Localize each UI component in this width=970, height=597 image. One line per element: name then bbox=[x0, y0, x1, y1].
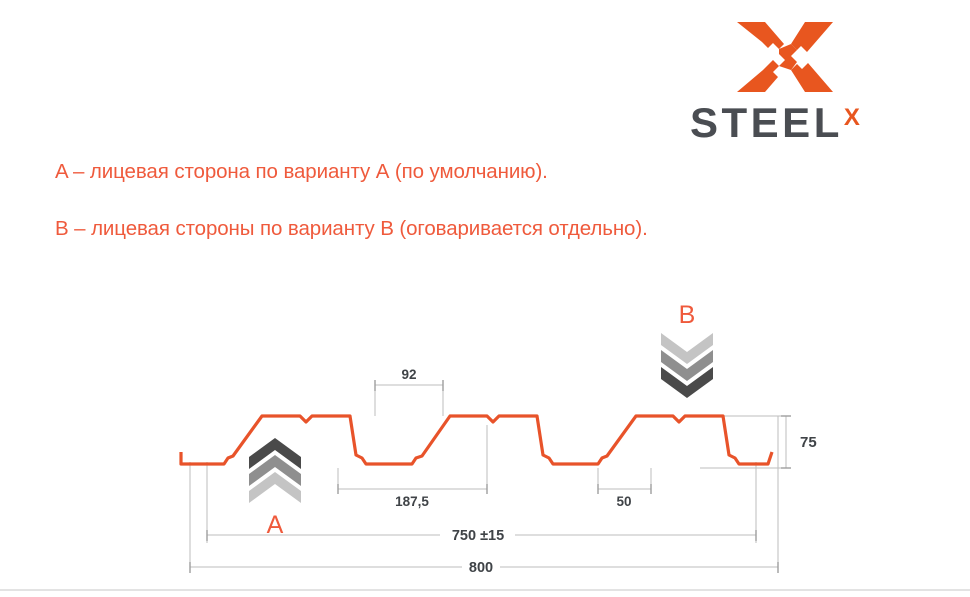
dimension-label-187-5: 187,5 bbox=[395, 494, 429, 509]
profile-technical-drawing: 92 187,5 50 75 750 ±15 800 bbox=[0, 0, 970, 597]
dimension-label-50: 50 bbox=[616, 494, 631, 509]
face-marker-a: A bbox=[243, 438, 307, 538]
dimension-label-92: 92 bbox=[401, 367, 416, 382]
face-marker-b: B bbox=[655, 303, 719, 408]
chevron-down-stack-icon bbox=[661, 333, 713, 404]
chevron-up-stack-icon bbox=[249, 438, 301, 509]
bottom-divider bbox=[0, 589, 970, 591]
dimension-label-750: 750 ±15 bbox=[452, 528, 504, 544]
face-marker-b-label: B bbox=[655, 303, 719, 328]
dimension-label-75: 75 bbox=[800, 434, 817, 451]
dimension-labels: 92 187,5 50 75 750 ±15 800 bbox=[395, 367, 817, 576]
face-marker-a-label: A bbox=[243, 513, 307, 538]
dimension-label-800: 800 bbox=[469, 560, 493, 576]
